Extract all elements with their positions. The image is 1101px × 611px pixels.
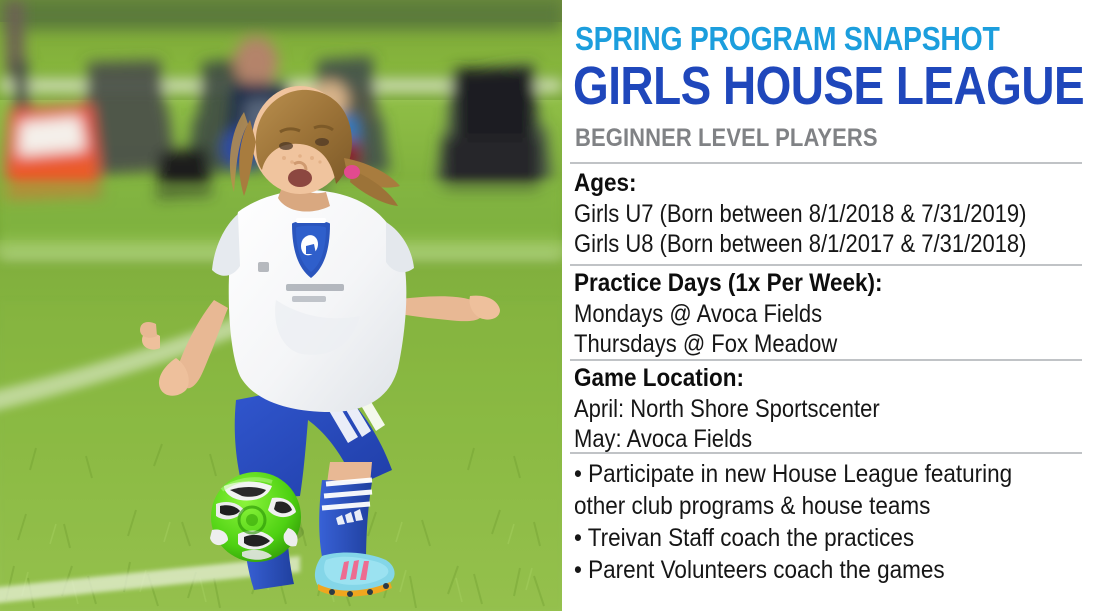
list-item-continuation: other club programs & house teams	[574, 490, 1042, 522]
section-practice-days-heading: Practice Days (1x Per Week):	[574, 268, 1042, 299]
section-ages: Ages: Girls U7 (Born between 8/1/2018 & …	[574, 168, 1094, 259]
section-game-location-line-2: May: Avoca Fields	[574, 424, 1032, 454]
section-ages-heading: Ages:	[574, 168, 1042, 199]
list-item: • Parent Volunteers coach the games	[574, 554, 1042, 586]
page-subtitle: BEGINNER LEVEL PLAYERS	[575, 125, 878, 151]
section-ages-line-2: Girls U8 (Born between 8/1/2017 & 7/31/2…	[574, 229, 1032, 259]
divider-1	[570, 162, 1082, 164]
hair-tie-icon	[344, 165, 360, 179]
list-item: • Participate in new House League featur…	[574, 458, 1042, 490]
section-practice-days: Practice Days (1x Per Week): Mondays @ A…	[574, 268, 1094, 359]
divider-3	[570, 359, 1082, 361]
section-practice-days-line-2: Thursdays @ Fox Meadow	[574, 329, 1032, 359]
list-item: • Treivan Staff coach the practices	[574, 522, 1042, 554]
program-flyer: SPRING PROGRAM SNAPSHOT GIRLS HOUSE LEAG…	[0, 0, 1101, 611]
photo-illustration	[0, 0, 562, 611]
section-practice-days-line-1: Mondays @ Avoca Fields	[574, 299, 1032, 329]
cleat-stripes-icon	[340, 560, 369, 580]
divider-2	[570, 264, 1082, 266]
section-game-location: Game Location: April: North Shore Sports…	[574, 363, 1094, 454]
info-panel: SPRING PROGRAM SNAPSHOT GIRLS HOUSE LEAG…	[562, 0, 1101, 611]
cleat-shoe	[315, 553, 395, 597]
section-game-location-line-1: April: North Shore Sportscenter	[574, 394, 1032, 424]
sleeve-logo-icon	[258, 262, 269, 272]
page-title: GIRLS HOUSE LEAGUE	[573, 59, 1084, 114]
highlights-list: • Participate in new House League featur…	[574, 458, 1094, 586]
section-game-location-heading: Game Location:	[574, 363, 1042, 394]
eyebrow-heading: SPRING PROGRAM SNAPSHOT	[575, 22, 1000, 56]
soccer-player-photo	[0, 0, 562, 611]
section-ages-line-1: Girls U7 (Born between 8/1/2018 & 7/31/2…	[574, 199, 1032, 229]
